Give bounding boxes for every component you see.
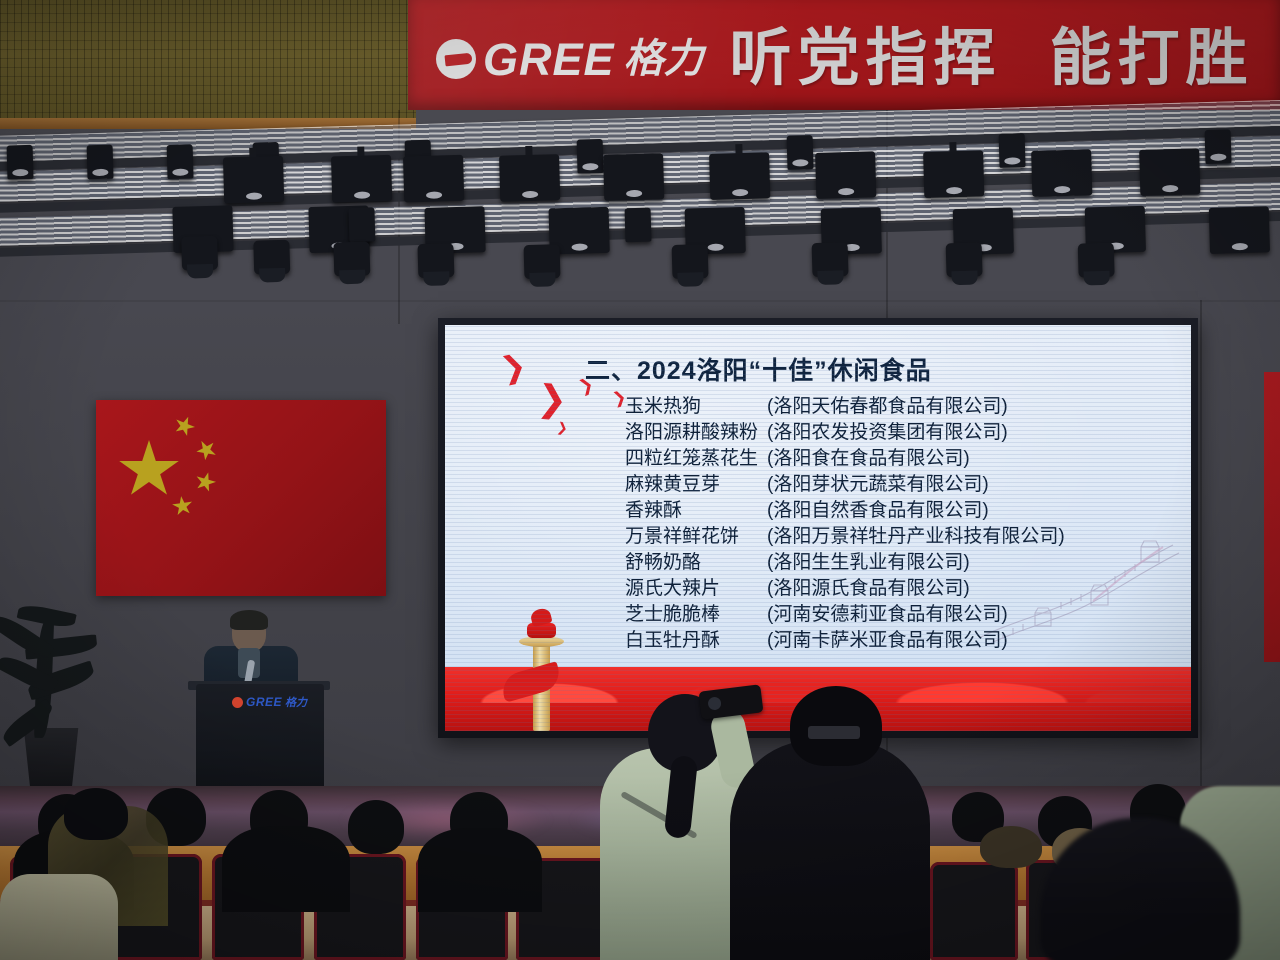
stage-light-icon (403, 155, 464, 203)
hair-clip-icon (808, 726, 860, 739)
product-name: 白玉牡丹酥 (625, 625, 767, 652)
chinese-flag (96, 400, 386, 596)
stage-light-icon (167, 144, 194, 179)
stage-light-icon (331, 155, 392, 203)
stage-lighting-truss (0, 90, 1280, 306)
product-name: 舒畅奶酪 (625, 547, 767, 574)
gree-mark-icon (232, 697, 243, 708)
podium-brand-word: GREE (246, 695, 282, 709)
gree-logo: GREE 格力 (436, 37, 704, 82)
podium-brand-cn: 格力 (285, 694, 307, 710)
stage-light-icon (603, 153, 664, 201)
list-item: 玉米热狗 (洛阳天佑春都食品有限公司) (625, 391, 1065, 417)
company-name: (洛阳生生乳业有限公司) (767, 547, 970, 574)
stage-light-icon (577, 139, 604, 174)
potted-palm-plant (0, 556, 114, 786)
company-name: (洛阳万景祥牡丹产业科技有限公司) (767, 521, 1065, 548)
stage-light-icon (709, 152, 770, 200)
product-name: 四粒红笼蒸花生 (625, 443, 767, 470)
list-item: 四粒红笼蒸花生 (洛阳食在食品有限公司) (625, 443, 1065, 469)
list-item: 芝士脆脆棒 (河南安德莉亚食品有限公司) (625, 599, 1065, 625)
stage-light-icon (625, 208, 652, 243)
audience-head (348, 800, 404, 854)
led-display-screen: ❯ ❯ ❯ ❯ ❯ (438, 318, 1198, 738)
list-item: 洛阳源耕酸辣粉 (洛阳农发投资集团有限公司) (625, 417, 1065, 443)
list-item: 香辣酥 (洛阳自然香食品有限公司) (625, 495, 1065, 521)
company-name: (洛阳农发投资集团有限公司) (767, 417, 1008, 444)
audience-head (64, 788, 128, 840)
par-can-light-icon (812, 242, 849, 277)
wall-seam (1200, 300, 1202, 786)
stage-light-icon (7, 145, 34, 180)
huabiao-pillar-icon (507, 599, 577, 731)
gree-mark-icon (436, 39, 476, 79)
company-name: (河南安德莉亚食品有限公司) (767, 599, 1008, 626)
list-item: 源氏大辣片 (洛阳源氏食品有限公司) (625, 573, 1065, 599)
stage-light-icon (1139, 148, 1200, 196)
company-name: (洛阳自然香食品有限公司) (767, 495, 989, 522)
audience-person-light-jacket (0, 874, 118, 960)
product-name: 源氏大辣片 (625, 573, 767, 600)
par-can-light-icon (253, 240, 290, 275)
par-can-light-icon (417, 243, 454, 278)
list-item: 万景祥鲜花饼 (洛阳万景祥牡丹产业科技有限公司) (625, 521, 1065, 547)
banner-brand-word: GREE (483, 37, 615, 82)
par-can-light-icon (333, 241, 370, 276)
list-item: 舒畅奶酪 (洛阳生生乳业有限公司) (625, 547, 1065, 573)
banner-brand-cn: 格力 (624, 39, 704, 79)
product-name: 洛阳源耕酸辣粉 (625, 417, 767, 444)
audience-head (980, 826, 1042, 868)
par-can-light-icon (1078, 243, 1115, 278)
product-name: 芝士脆脆棒 (625, 599, 767, 626)
par-can-light-icon (946, 242, 983, 277)
stage-light-icon (348, 207, 375, 242)
par-can-light-icon (672, 244, 709, 279)
stage-light-icon (223, 156, 284, 204)
acoustic-wall-panel (0, 0, 416, 122)
audience-shoulders (418, 828, 542, 912)
slide-title: 二、2024洛阳“十佳”休闲食品 (585, 351, 932, 387)
bird-icon: ❯ (556, 420, 569, 435)
right-wall-red-panel (1264, 372, 1280, 662)
stage-light-icon (1205, 129, 1232, 164)
product-name: 玉米热狗 (625, 391, 767, 418)
company-name: (洛阳芽状元蔬菜有限公司) (767, 469, 989, 496)
audience-shoulders (222, 826, 350, 912)
stage-light-icon (787, 135, 814, 170)
stage-light-icon (815, 151, 876, 199)
product-name: 万景祥鲜花饼 (625, 521, 767, 548)
par-can-light-icon (181, 236, 218, 271)
stage-light-icon (499, 154, 560, 202)
company-name: (洛阳天佑春都食品有限公司) (767, 391, 1008, 418)
banner-slogan-1: 听党指挥 (730, 28, 1002, 90)
flag-star-small-icon (171, 413, 198, 439)
product-name: 香辣酥 (625, 495, 767, 522)
banner-slogan-2: 能打胜 (1050, 28, 1254, 90)
list-item: 白玉牡丹酥 (河南卡萨米亚食品有限公司) (625, 625, 1065, 651)
stage-light-icon (1209, 206, 1270, 254)
flag-star-small-icon (193, 469, 219, 494)
flag-star-small-icon (192, 436, 221, 465)
flag-star-large-icon (118, 440, 180, 500)
slide-item-list: 玉米热狗 (洛阳天佑春都食品有限公司) 洛阳源耕酸辣粉 (洛阳农发投资集团有限公… (625, 391, 1065, 651)
bird-icon: ❯ (536, 380, 569, 418)
stage-light-icon (923, 150, 984, 198)
bird-icon: ❯ (498, 351, 529, 386)
stage-light-icon (1031, 149, 1092, 197)
auditorium-seat (930, 862, 1018, 960)
company-name: (洛阳食在食品有限公司) (767, 443, 970, 470)
podium-gree-logo: GREE 格力 (232, 694, 307, 710)
flag-star-small-icon (171, 495, 195, 518)
auditorium-photo: GREE 格力 听党指挥 能打胜 (0, 0, 1280, 960)
company-name: (洛阳源氏食品有限公司) (767, 573, 970, 600)
audience-person-black-coat (730, 740, 930, 960)
product-name: 麻辣黄豆芽 (625, 469, 767, 496)
slide-surface: ❯ ❯ ❯ ❯ ❯ (445, 325, 1191, 731)
stage-light-icon (87, 145, 114, 180)
par-can-light-icon (524, 244, 561, 279)
stage-light-icon (999, 133, 1026, 168)
list-item: 麻辣黄豆芽 (洛阳芽状元蔬菜有限公司) (625, 469, 1065, 495)
company-name: (河南卡萨米亚食品有限公司) (767, 625, 1008, 652)
